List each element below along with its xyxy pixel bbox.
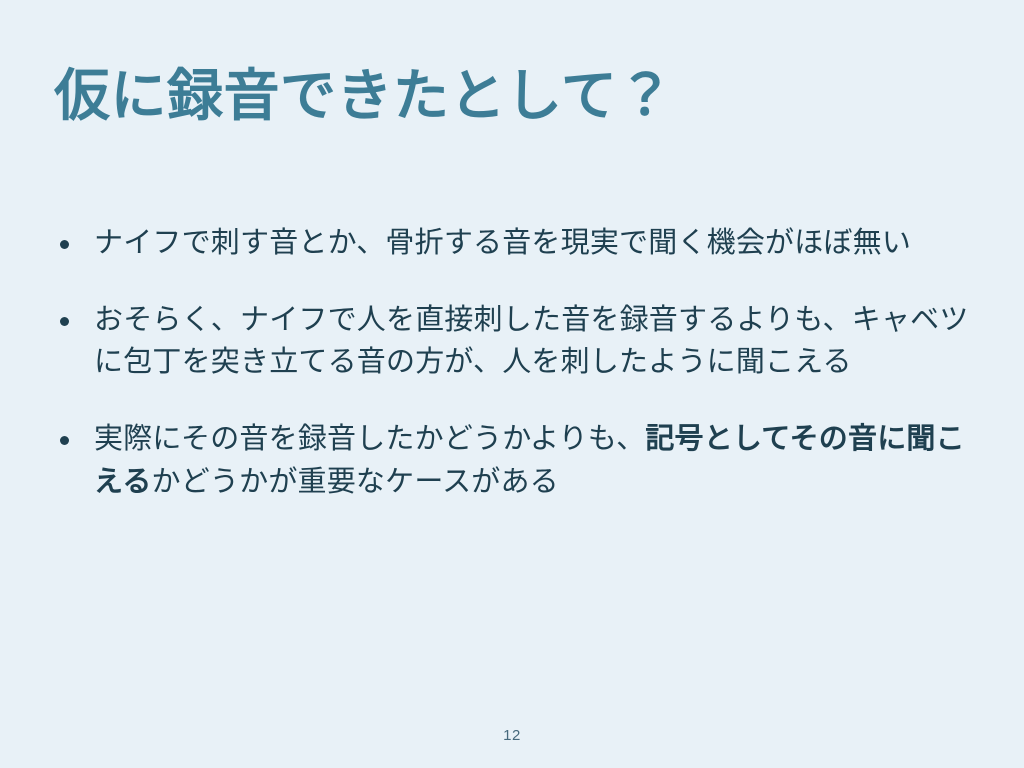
page-number: 12 [0, 728, 1024, 743]
list-item-text: 実際にその音を録音したかどうかよりも、記号としてその音に聞こえるかどうかが重要な… [94, 418, 974, 503]
list-item-text: ナイフで刺す音とか、骨折する音を現実で聞く機会がほぼ無い [94, 222, 974, 265]
bullet-dot-icon [60, 240, 69, 249]
list-item: おそらく、ナイフで人を直接刺した音を録音するよりも、キャベツに包丁を突き立てる音… [54, 299, 974, 384]
bullet-dot-icon [60, 317, 69, 326]
slide-canvas: 仮に録音できたとして？ ナイフで刺す音とか、骨折する音を現実で聞く機会がほぼ無い… [0, 0, 1024, 768]
list-item: ナイフで刺す音とか、骨折する音を現実で聞く機会がほぼ無い [54, 222, 974, 265]
page-title: 仮に録音できたとして？ [54, 62, 954, 130]
list-item-text: おそらく、ナイフで人を直接刺した音を録音するよりも、キャベツに包丁を突き立てる音… [94, 299, 974, 384]
bullet-list: ナイフで刺す音とか、骨折する音を現実で聞く機会がほぼ無い おそらく、ナイフで人を… [54, 222, 974, 503]
list-item: 実際にその音を録音したかどうかよりも、記号としてその音に聞こえるかどうかが重要な… [54, 418, 974, 503]
bullet-dot-icon [60, 436, 69, 445]
